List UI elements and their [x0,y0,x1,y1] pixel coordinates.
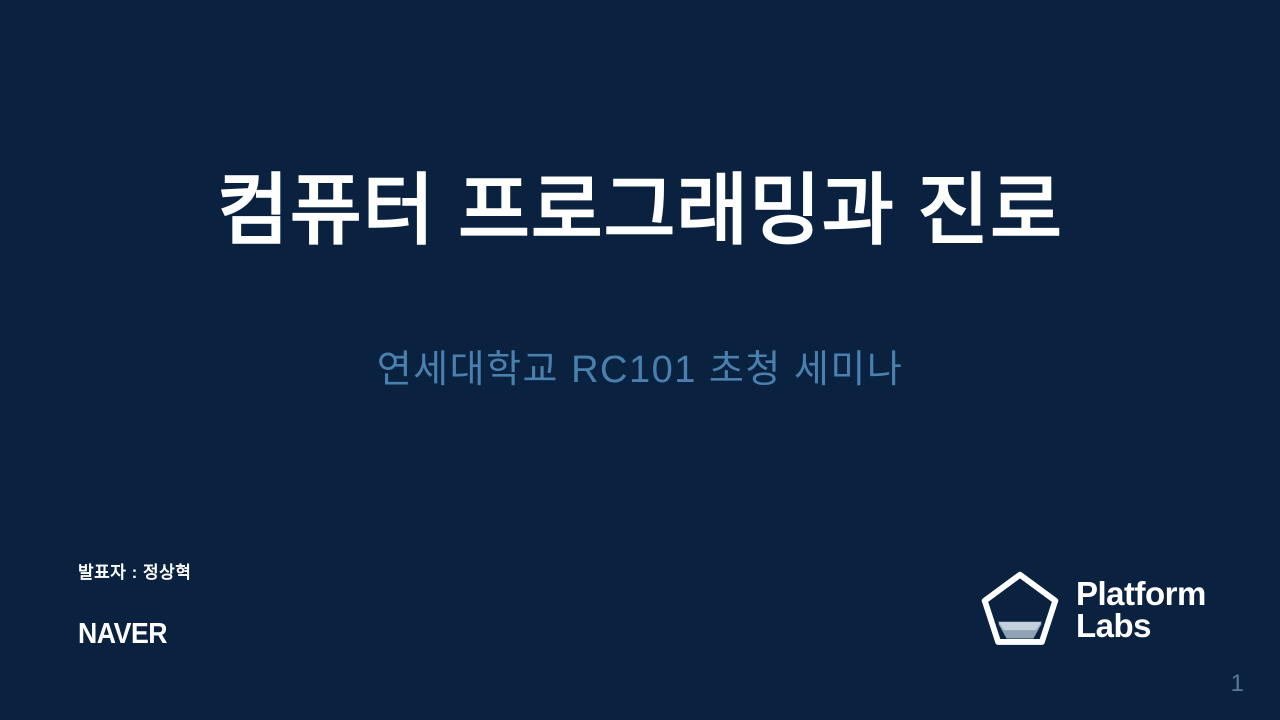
slide-subtitle: 연세대학교 RC101 초청 세미나 [0,348,1280,394]
page-number: 1 [1231,672,1244,696]
title-block: 컴퓨터 프로그래밍과 진로 [0,168,1280,254]
platform-labs-line2: Labs [1076,610,1206,642]
platform-labs-line1: Platform [1076,578,1206,610]
platform-labs-logo: Platform Labs [978,568,1206,652]
presenter-label: 발표자 : 정상혁 [78,558,191,583]
presentation-slide: 컴퓨터 프로그래밍과 진로 연세대학교 RC101 초청 세미나 발표자 : 정… [0,0,1280,720]
naver-logo: NAVER [78,620,167,649]
pentagon-icon [978,568,1062,652]
page-title: 컴퓨터 프로그래밍과 진로 [0,168,1280,254]
platform-labs-wordmark: Platform Labs [1076,578,1206,643]
